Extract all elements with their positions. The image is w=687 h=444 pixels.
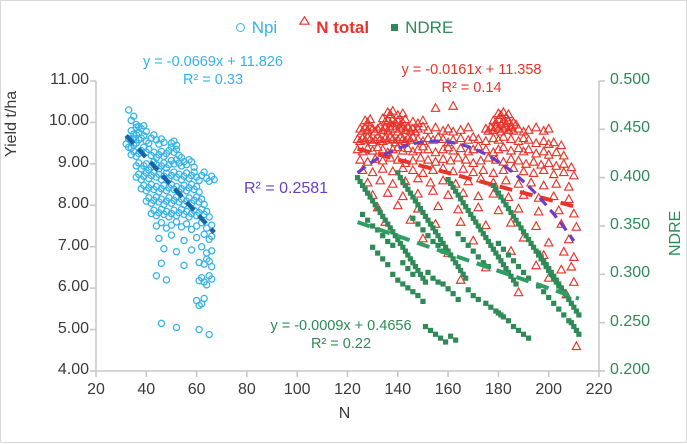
data-point bbox=[420, 299, 425, 304]
data-point bbox=[471, 293, 476, 298]
data-point bbox=[464, 123, 472, 131]
data-point bbox=[534, 207, 542, 215]
y-tick-label-right: 0.200 bbox=[610, 361, 670, 379]
data-point bbox=[499, 133, 507, 141]
data-point bbox=[488, 305, 493, 310]
data-point bbox=[550, 170, 558, 178]
data-point bbox=[435, 243, 440, 248]
data-point bbox=[565, 182, 573, 190]
data-point bbox=[516, 264, 521, 269]
data-point bbox=[173, 219, 179, 225]
x-tick-label: 100 bbox=[269, 381, 325, 399]
data-point bbox=[380, 233, 385, 238]
data-point bbox=[156, 235, 162, 241]
data-point bbox=[431, 123, 439, 131]
data-point bbox=[384, 189, 392, 197]
data-point bbox=[499, 158, 507, 166]
data-point bbox=[489, 169, 497, 177]
data-point bbox=[469, 159, 477, 167]
n-total-equation-annotation: y = -0.0161x + 11.358 R² = 0.14 bbox=[379, 61, 564, 97]
data-point bbox=[410, 272, 415, 277]
data-point bbox=[483, 301, 488, 306]
data-point bbox=[482, 137, 490, 145]
data-point bbox=[499, 143, 507, 151]
scatter-plot-canvas bbox=[1, 1, 687, 444]
data-point bbox=[532, 123, 540, 131]
data-point bbox=[181, 237, 187, 243]
data-point bbox=[519, 167, 527, 175]
data-point bbox=[395, 278, 400, 283]
y-tick-label-right: 0.400 bbox=[610, 168, 670, 186]
data-point bbox=[511, 258, 516, 263]
data-point bbox=[206, 214, 212, 220]
data-point bbox=[161, 246, 167, 252]
data-point bbox=[532, 139, 540, 147]
data-point bbox=[572, 223, 580, 231]
data-point bbox=[409, 166, 417, 174]
ndre-equation-line: y = -0.0009x + 0.4656 bbox=[241, 317, 441, 335]
data-point bbox=[476, 254, 481, 259]
data-point bbox=[479, 166, 487, 174]
data-point bbox=[209, 222, 215, 228]
data-point bbox=[527, 178, 535, 186]
data-point bbox=[158, 220, 164, 226]
data-point bbox=[360, 212, 365, 217]
data-point bbox=[201, 231, 207, 237]
data-point bbox=[183, 221, 189, 227]
data-point bbox=[539, 181, 547, 189]
x-tick-label: 160 bbox=[420, 381, 476, 399]
data-point bbox=[209, 264, 215, 270]
data-point bbox=[521, 332, 526, 337]
y-axis-title-left: Yield t/ha bbox=[3, 91, 21, 157]
data-point bbox=[435, 279, 440, 284]
data-point bbox=[410, 216, 415, 221]
data-point bbox=[471, 249, 476, 254]
y-tick-label-right: 0.450 bbox=[610, 119, 670, 137]
data-point bbox=[370, 223, 375, 228]
data-point bbox=[173, 249, 179, 255]
data-point bbox=[461, 237, 466, 242]
data-point bbox=[570, 171, 578, 179]
data-point bbox=[459, 165, 467, 173]
data-point bbox=[370, 245, 375, 250]
data-point bbox=[424, 156, 432, 164]
data-point bbox=[375, 250, 380, 255]
data-point bbox=[560, 151, 568, 159]
data-point bbox=[201, 295, 207, 301]
data-point bbox=[502, 176, 510, 184]
y-tick-label-left: 9.00 bbox=[29, 154, 89, 172]
data-point bbox=[552, 180, 560, 188]
y-tick-label-right: 0.500 bbox=[610, 71, 670, 89]
data-point bbox=[126, 107, 132, 113]
data-point bbox=[376, 176, 384, 184]
data-point bbox=[395, 170, 400, 175]
data-point bbox=[462, 156, 470, 164]
data-point bbox=[566, 318, 571, 323]
data-point bbox=[557, 265, 565, 273]
ndre-equation-annotation: y = -0.0009x + 0.4656 R² = 0.22 bbox=[241, 317, 441, 353]
data-point bbox=[389, 180, 397, 188]
data-point bbox=[474, 203, 482, 211]
x-tick-label: 120 bbox=[320, 381, 376, 399]
data-point bbox=[507, 155, 515, 163]
data-point bbox=[456, 231, 461, 236]
data-point bbox=[446, 156, 454, 164]
data-point bbox=[514, 288, 522, 296]
data-point bbox=[443, 339, 448, 344]
data-point bbox=[400, 260, 405, 265]
data-point bbox=[466, 287, 471, 292]
n-total-r2-line: R² = 0.14 bbox=[379, 79, 564, 97]
data-point bbox=[153, 273, 159, 279]
data-point bbox=[551, 301, 556, 306]
data-point bbox=[560, 247, 568, 255]
data-point bbox=[451, 291, 456, 296]
data-point bbox=[529, 158, 537, 166]
data-point bbox=[405, 266, 410, 271]
data-point bbox=[453, 337, 458, 342]
data-point bbox=[430, 239, 435, 244]
x-axis-title: N bbox=[1, 405, 687, 423]
data-point bbox=[522, 160, 530, 168]
data-point bbox=[420, 227, 425, 232]
data-point bbox=[545, 159, 553, 167]
data-point bbox=[556, 307, 561, 312]
data-point bbox=[496, 310, 501, 315]
data-point bbox=[532, 261, 540, 269]
data-point bbox=[449, 102, 457, 110]
data-point bbox=[545, 238, 553, 246]
data-point bbox=[405, 285, 410, 290]
data-point bbox=[567, 262, 575, 270]
data-point bbox=[552, 148, 560, 156]
data-point bbox=[546, 295, 551, 300]
data-point bbox=[163, 277, 169, 283]
data-point bbox=[400, 281, 405, 286]
data-point bbox=[532, 222, 540, 230]
data-point bbox=[496, 241, 501, 246]
ndre-r2-line: R² = 0.22 bbox=[241, 335, 441, 353]
data-point bbox=[448, 334, 453, 339]
data-point bbox=[390, 243, 395, 248]
data-point bbox=[511, 324, 516, 329]
data-point bbox=[576, 332, 581, 337]
data-point bbox=[426, 178, 434, 186]
data-point bbox=[570, 253, 578, 261]
data-point bbox=[199, 244, 205, 250]
data-point bbox=[390, 272, 395, 277]
data-point bbox=[385, 239, 390, 244]
data-point bbox=[572, 342, 580, 350]
data-point bbox=[410, 289, 415, 294]
data-point bbox=[550, 138, 558, 146]
x-tick-label: 200 bbox=[521, 381, 577, 399]
data-point bbox=[555, 206, 563, 214]
data-point bbox=[524, 126, 532, 134]
data-point bbox=[456, 218, 464, 226]
data-point bbox=[423, 279, 428, 284]
data-point bbox=[415, 221, 420, 226]
data-point bbox=[561, 312, 566, 317]
data-point bbox=[430, 276, 435, 281]
data-point bbox=[570, 209, 578, 217]
data-point bbox=[425, 270, 430, 275]
n-total-equation-line: y = -0.0161x + 11.358 bbox=[379, 61, 564, 79]
data-point bbox=[507, 146, 515, 154]
data-point bbox=[365, 218, 370, 223]
data-point bbox=[196, 326, 202, 332]
chart-stage: Npi N total NDRE Yield t/ha NDRE N y = -… bbox=[1, 1, 686, 442]
data-point bbox=[446, 286, 451, 291]
x-tick-label: 220 bbox=[571, 381, 627, 399]
data-point bbox=[506, 252, 511, 257]
data-point bbox=[466, 243, 471, 248]
data-point bbox=[444, 191, 452, 199]
chart-frame: Npi N total NDRE Yield t/ha NDRE N y = -… bbox=[0, 0, 687, 443]
data-point bbox=[469, 168, 477, 176]
y-tick-label-left: 8.00 bbox=[29, 195, 89, 213]
data-point bbox=[419, 169, 427, 177]
data-point bbox=[188, 247, 194, 253]
data-point bbox=[206, 331, 212, 337]
npi-equation-annotation: y = -0.0669x + 11.826 R² = 0.33 bbox=[123, 53, 303, 89]
data-point bbox=[506, 318, 511, 323]
data-point bbox=[399, 192, 407, 200]
data-point bbox=[514, 156, 522, 164]
data-point bbox=[379, 165, 387, 173]
y-tick-label-left: 5.00 bbox=[29, 320, 89, 338]
x-tick-label: 60 bbox=[169, 381, 225, 399]
data-point bbox=[454, 153, 462, 161]
data-point bbox=[513, 281, 518, 286]
y-tick-label-right: 0.350 bbox=[610, 216, 670, 234]
data-point bbox=[194, 235, 200, 241]
data-point bbox=[456, 297, 461, 302]
npi-r2-line: R² = 0.33 bbox=[123, 71, 303, 89]
data-point bbox=[431, 104, 439, 112]
data-point bbox=[394, 201, 402, 209]
data-point bbox=[477, 156, 485, 164]
x-tick-label: 20 bbox=[68, 381, 124, 399]
data-point bbox=[385, 262, 390, 267]
data-point bbox=[570, 278, 578, 286]
y-tick-label-right: 0.300 bbox=[610, 264, 670, 282]
npi-equation-line: y = -0.0669x + 11.826 bbox=[123, 53, 303, 71]
data-point bbox=[440, 281, 445, 286]
data-point bbox=[158, 320, 164, 326]
data-point bbox=[565, 195, 573, 203]
y-tick-label-left: 4.00 bbox=[29, 361, 89, 379]
data-point bbox=[454, 205, 462, 213]
data-point bbox=[434, 202, 442, 210]
data-point bbox=[181, 262, 187, 268]
poly-r2-annotation: R² = 0.2581 bbox=[244, 179, 328, 199]
data-point bbox=[539, 166, 547, 174]
data-point bbox=[425, 233, 430, 238]
data-point bbox=[431, 158, 439, 166]
data-point bbox=[567, 163, 575, 171]
y-tick-label-left: 7.00 bbox=[29, 237, 89, 255]
data-point bbox=[545, 124, 553, 132]
data-point bbox=[463, 276, 468, 281]
data-point bbox=[494, 206, 502, 214]
data-point bbox=[514, 204, 522, 212]
y-tick-label-left: 11.00 bbox=[29, 71, 89, 89]
data-point bbox=[456, 126, 464, 134]
y-tick-label-right: 0.250 bbox=[610, 313, 670, 331]
x-tick-label: 40 bbox=[118, 381, 174, 399]
y-tick-label-left: 6.00 bbox=[29, 278, 89, 296]
data-point bbox=[474, 192, 482, 200]
data-point bbox=[380, 256, 385, 261]
data-point bbox=[474, 142, 482, 150]
data-point bbox=[429, 187, 437, 195]
data-point bbox=[529, 169, 537, 177]
data-point bbox=[168, 232, 174, 238]
data-point bbox=[356, 156, 364, 164]
x-tick-label: 80 bbox=[219, 381, 275, 399]
data-point bbox=[415, 293, 420, 298]
data-point bbox=[507, 135, 515, 143]
x-tick-label: 180 bbox=[470, 381, 526, 399]
data-point bbox=[368, 168, 376, 176]
data-point bbox=[521, 270, 526, 275]
x-tick-label: 140 bbox=[370, 381, 426, 399]
data-point bbox=[541, 289, 546, 294]
data-point bbox=[476, 297, 481, 302]
data-point bbox=[552, 162, 560, 170]
data-point bbox=[173, 324, 179, 330]
data-point bbox=[560, 160, 568, 168]
data-point bbox=[158, 260, 164, 266]
y-tick-label-left: 10.00 bbox=[29, 112, 89, 130]
data-point bbox=[431, 148, 439, 156]
data-point bbox=[516, 328, 521, 333]
data-point bbox=[501, 314, 506, 319]
data-point bbox=[501, 247, 506, 252]
data-point bbox=[576, 312, 581, 317]
data-point bbox=[557, 141, 565, 149]
data-point bbox=[526, 336, 531, 341]
data-point bbox=[414, 174, 422, 182]
